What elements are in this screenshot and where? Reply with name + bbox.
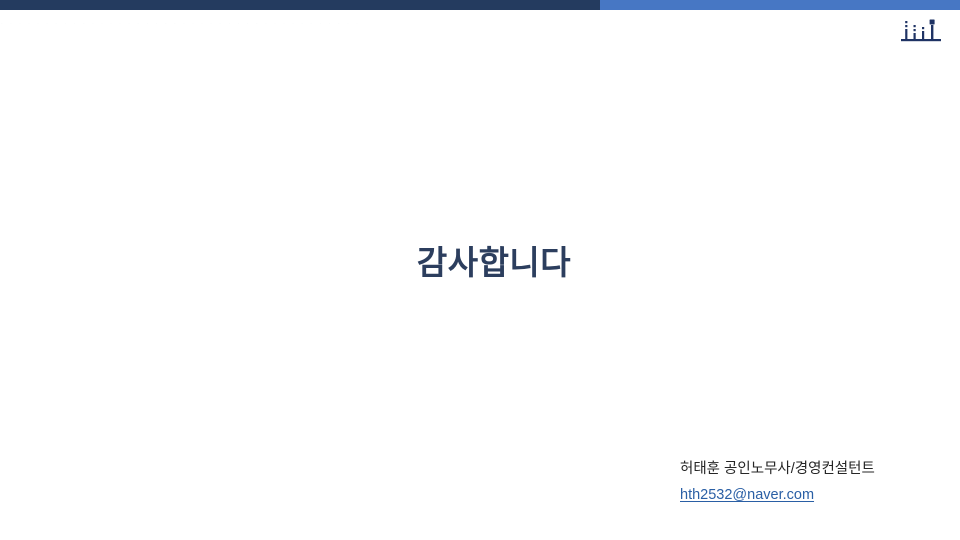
dot-plot-logo [900, 14, 942, 44]
page-title: 감사합니다 [0, 242, 960, 283]
top-accent-bar [0, 0, 960, 10]
contact-email-link[interactable]: hth2532@naver.com [680, 482, 814, 508]
faint-watermark-strip: · · · · · · · · · · · · · · · · · · · · … [0, 17, 640, 31]
contact-name-line: 허태훈 공인노무사/경영컨설턴트 [680, 457, 920, 482]
top-accent-bar-dark-segment [0, 0, 600, 10]
slide-canvas: · · · · · · · · · · · · · · · · · · · · … [0, 0, 960, 540]
page-title-text: 감사합니다 [417, 242, 571, 283]
contact-block: 허태훈 공인노무사/경영컨설턴트 hth2532@naver.com [680, 457, 920, 508]
top-accent-bar-light-segment [600, 0, 960, 10]
